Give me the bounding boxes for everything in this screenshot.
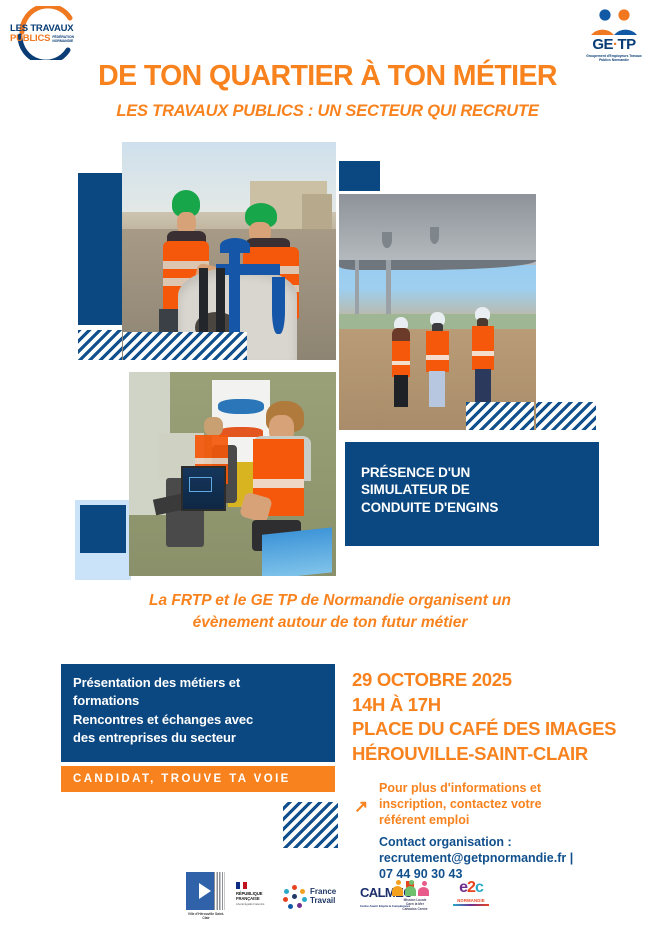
decor-stripes-square-bottom [283, 802, 338, 848]
program-line4: des entreprises du secteur [73, 729, 325, 747]
frtp-subtitle: FÉDÉRATION NORMANDIE [52, 35, 80, 44]
organise-line2: évènement autour de ton futur métier [60, 612, 600, 634]
simulator-line1: PRÉSENCE D'UN [361, 464, 589, 481]
logo-republique-francaise: RÉPUBLIQUE FRANÇAISE Liberté Égalité Fra… [236, 882, 272, 906]
frtp-line2: PUBLICS [10, 34, 50, 44]
decor-stripes-under-photo2-b [536, 402, 596, 430]
getp-tp: TP [618, 36, 636, 53]
arrow-up-right-icon: ↗ [354, 798, 372, 816]
program-text: Présentation des métiers et formations R… [73, 674, 325, 748]
cta-banner: CANDIDAT, TROUVE TA VOIE [61, 766, 335, 792]
photo-visitors-site [339, 194, 536, 430]
simulator-line3: CONDUITE D'ENGINS [361, 499, 589, 516]
frtp-logo: LES TRAVAUX PUBLICS FÉDÉRATION NORMANDIE [8, 6, 82, 60]
event-details: 29 OCTOBRE 2025 14H À 17H PLACE DU CAFÉ … [352, 668, 652, 766]
logo-rf-motto: Liberté Égalité Fraternité [236, 903, 272, 906]
event-city: HÉROUVILLE-SAINT-CLAIR [352, 742, 652, 767]
contact-info: Pour plus d'informations et inscription,… [379, 781, 609, 828]
mission-locale-label: Mission Locale Caen la Mer Calvados Cent… [390, 898, 440, 911]
partner-logos: Ville d'Hérouville Saint-Clair RÉPUBLIQU… [0, 870, 655, 946]
program-line2: formations [73, 692, 325, 710]
logo-ville-herouville-saint-clair: Ville d'Hérouville Saint-Clair [186, 872, 226, 918]
decor-blue-rect-left [78, 173, 123, 325]
mission-locale-line3: Calvados Centre [390, 907, 440, 911]
simulator-info-text: PRÉSENCE D'UN SIMULATEUR DE CONDUITE D'E… [361, 464, 589, 516]
cta-label: CANDIDAT, TROUVE TA VOIE [73, 773, 291, 785]
mission-locale-people-icon [390, 880, 440, 897]
getp-people-icon [583, 8, 645, 36]
french-flag-icon [236, 882, 247, 889]
contact-org-line1: Contact organisation : [379, 834, 629, 850]
france-travail-line2: Travail [310, 897, 336, 906]
getp-logo: GE·TP Groupement d'Employeurs Travaux Pu… [583, 8, 645, 64]
decor-stripes-under-photo1 [123, 332, 247, 360]
simulator-info-box: PRÉSENCE D'UN SIMULATEUR DE CONDUITE D'E… [345, 442, 599, 546]
organise-line1: La FRTP et le GE TP de Normandie organis… [60, 590, 600, 612]
event-date: 29 OCTOBRE 2025 [352, 668, 652, 693]
decor-stripes-left [78, 330, 123, 360]
getp-wordmark: GE·TP [583, 37, 645, 52]
simulator-line2: SIMULATEUR DE [361, 481, 589, 498]
poster-root: LES TRAVAUX PUBLICS FÉDÉRATION NORMANDIE… [0, 0, 655, 946]
organise-text: La FRTP et le GE TP de Normandie organis… [60, 590, 600, 635]
contact-info-line1: Pour plus d'informations et [379, 781, 609, 797]
event-place: PLACE DU CAFÉ DES IMAGES [352, 717, 652, 742]
photo-workers-pipes [122, 142, 336, 360]
e2c-color-bar [453, 904, 489, 906]
program-line1: Présentation des métiers et [73, 674, 325, 692]
triangle-icon [199, 883, 211, 899]
e2c-region: NORMANDIE [448, 898, 494, 903]
contact-info-line2: inscription, contactez votre [379, 797, 609, 813]
decor-stripes-under-photo2-a [466, 402, 534, 430]
program-line3: Rencontres et échanges avec [73, 711, 325, 729]
logo-e2c-normandie: e2c NORMANDIE [448, 880, 494, 906]
decor-blue-rect-top-right [339, 161, 380, 191]
logo-france-travail: France Travail [283, 884, 355, 910]
logo-ville-label: Ville d'Hérouville Saint-Clair [186, 912, 226, 920]
decor-blue-rect-lower-left [80, 505, 126, 553]
event-time: 14H À 17H [352, 693, 652, 718]
logo-mission-locale: Mission Locale Caen la Mer Calvados Cent… [390, 880, 440, 911]
france-travail-dots-icon [283, 885, 307, 909]
contact-info-line3: référent emploi [379, 813, 609, 829]
photo-simulator [129, 372, 336, 576]
contact-org-email[interactable]: recrutement@getpnormandie.fr | [379, 850, 629, 866]
e2c-label: e2c [448, 880, 494, 896]
logo-rf-label: RÉPUBLIQUE FRANÇAISE [236, 891, 272, 902]
getp-ge: GE [592, 36, 613, 53]
program-box: Présentation des métiers et formations R… [61, 664, 335, 762]
poster-title: DE TON QUARTIER À TON MÉTIER [0, 60, 655, 93]
france-travail-label: France Travail [310, 888, 336, 905]
poster-subtitle: LES TRAVAUX PUBLICS : UN SECTEUR QUI REC… [0, 102, 655, 121]
